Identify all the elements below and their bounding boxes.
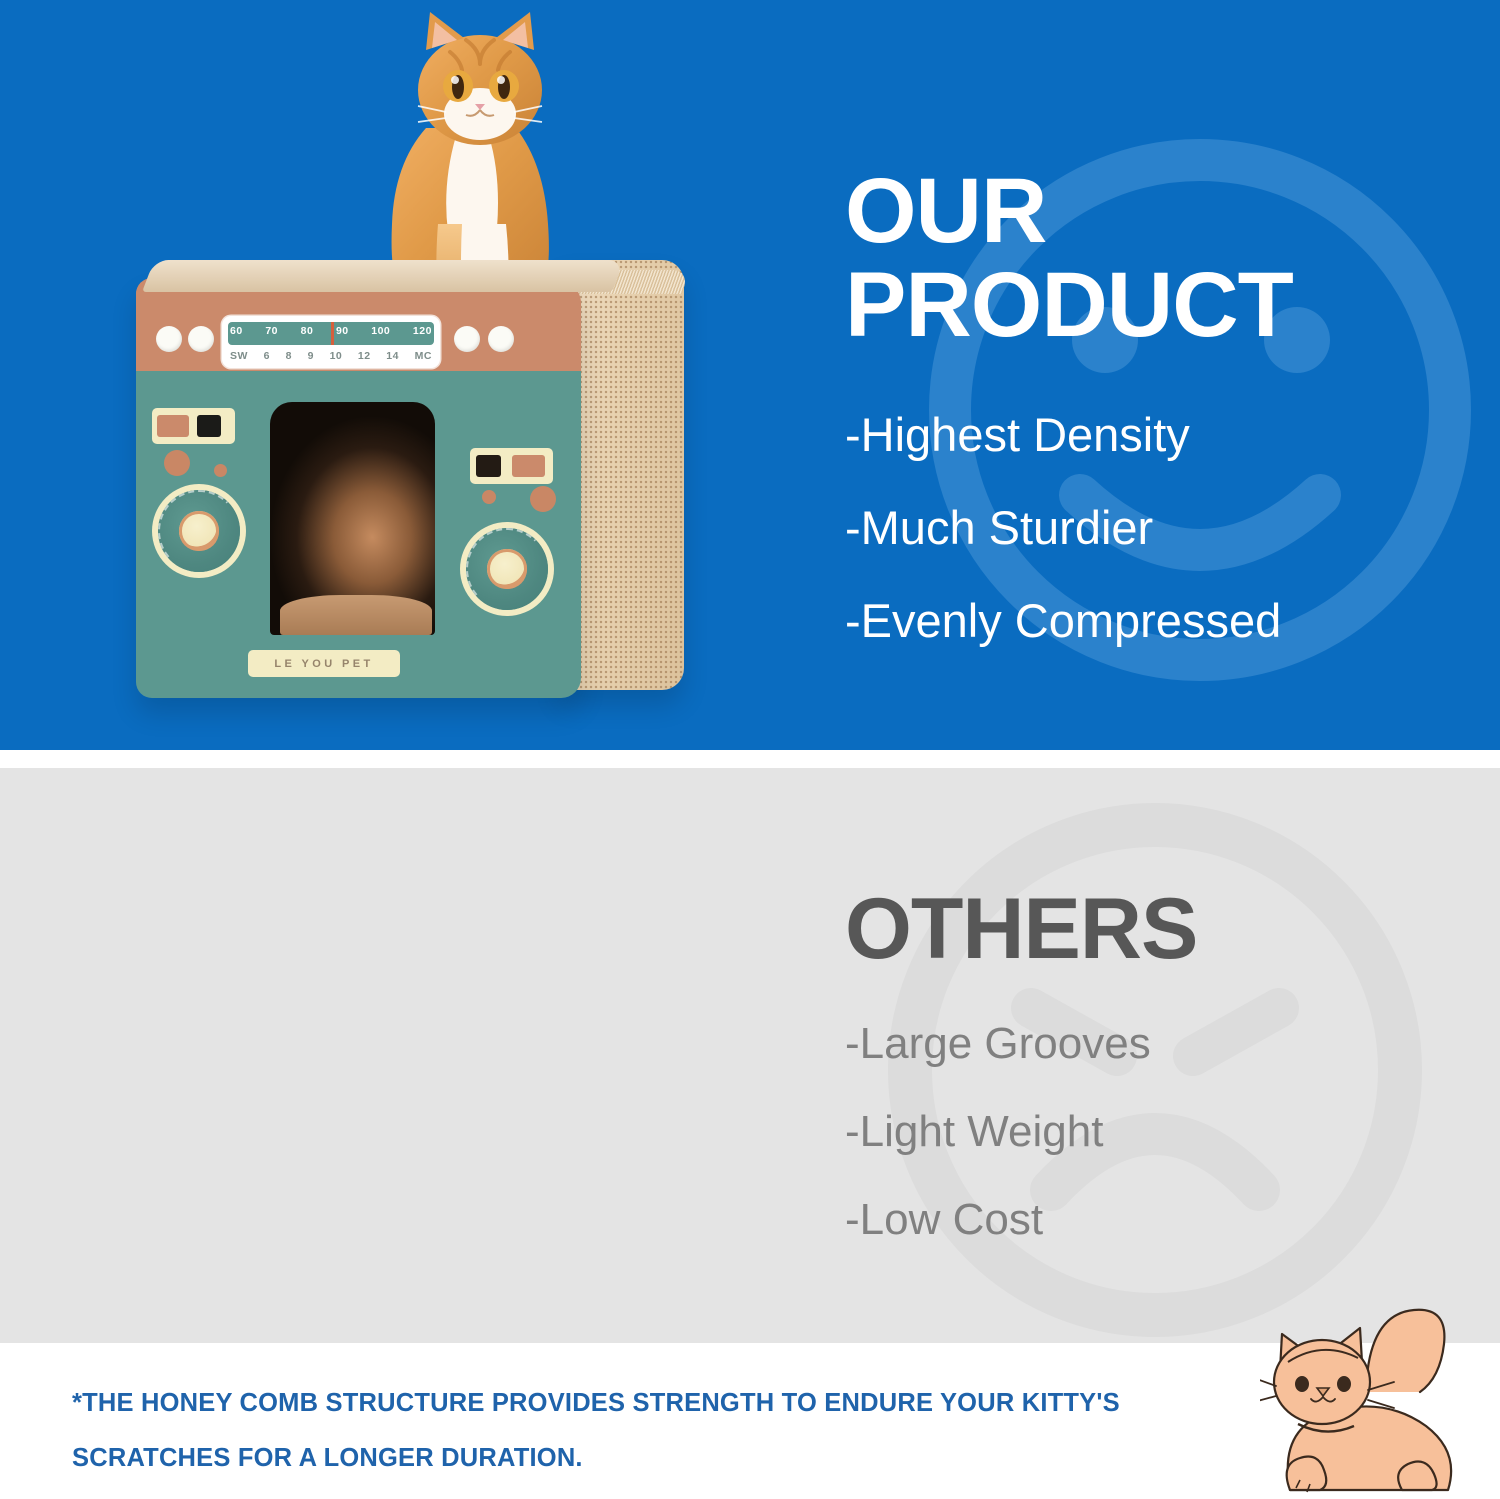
radio-dial-bottom-row: SW 6 8 9 10 12 14 MC (230, 350, 432, 362)
boombox-front-face: 60 70 80 90 100 120 SW 6 8 9 10 12 14 MC (136, 278, 581, 698)
boombox-top-lid (142, 260, 624, 292)
dial-tick: 70 (265, 325, 278, 337)
footer-note-line-1: *THE HONEY COMB STRUCTURE PROVIDES STREN… (72, 1376, 1252, 1431)
radio-dial-plate: 60 70 80 90 100 120 SW 6 8 9 10 12 14 MC (222, 316, 440, 368)
boombox-dot (164, 450, 190, 476)
bullet-item: -Large Grooves (845, 1022, 1465, 1066)
dial-tick: SW (230, 350, 248, 362)
our-product-bullets: -Highest Density -Much Sturdier -Evenly … (845, 411, 1465, 644)
boombox-dot (214, 464, 227, 477)
dial-tick: MC (415, 350, 432, 362)
dial-tick: 10 (330, 350, 343, 362)
boombox-dot (530, 486, 556, 512)
footer-bar: *THE HONEY COMB STRUCTURE PROVIDES STREN… (0, 1343, 1500, 1499)
dial-tick: 8 (286, 350, 292, 362)
heading-line-1: OUR (845, 160, 1046, 262)
speaker-ring-right (466, 528, 548, 610)
boombox-knob (156, 326, 182, 352)
footer-note: *THE HONEY COMB STRUCTURE PROVIDES STREN… (72, 1376, 1252, 1486)
cassette-window (157, 415, 189, 437)
cassette-window (512, 455, 545, 477)
dial-tick: 120 (413, 325, 432, 337)
cassette-window (197, 415, 221, 437)
brand-label: LE YOU PET (248, 650, 400, 677)
boombox-knob (488, 326, 514, 352)
others-bullets: -Large Grooves -Light Weight -Low Cost (845, 1022, 1465, 1242)
dial-tick: 80 (301, 325, 314, 337)
dial-tick: 6 (264, 350, 270, 362)
others-heading: OTHERS (845, 886, 1465, 972)
dial-tick: 60 (230, 325, 243, 337)
bullet-item: -Much Sturdier (845, 504, 1465, 551)
our-product-image: 60 70 80 90 100 120 SW 6 8 9 10 12 14 MC (104, 8, 724, 718)
cassette-bay-left (152, 408, 235, 444)
cat-house-floor (280, 595, 432, 635)
bullet-item: -Highest Density (845, 411, 1465, 458)
boombox-knob (188, 326, 214, 352)
cassette-bay-right (470, 448, 553, 484)
others-panel: OTHERS -Large Grooves -Light Weight -Low… (0, 768, 1500, 1343)
cat-house-opening (270, 402, 435, 635)
radio-dial-top-row: 60 70 80 90 100 120 (230, 325, 432, 337)
dial-tick: 90 (336, 325, 349, 337)
speaker-ring-left (158, 490, 240, 572)
cartoon-cat-mascot (1260, 1304, 1500, 1499)
dial-tick: 14 (386, 350, 399, 362)
dial-tick: 100 (371, 325, 390, 337)
boombox-knob (454, 326, 480, 352)
heading-line-2: PRODUCT (845, 259, 1465, 353)
boombox-dot (482, 490, 496, 504)
our-product-text-column: OUR PRODUCT -Highest Density -Much Sturd… (845, 165, 1465, 690)
bullet-item: -Light Weight (845, 1110, 1465, 1154)
dial-tick: 9 (308, 350, 314, 362)
footer-note-line-2: SCRATCHES FOR A LONGER DURATION. (72, 1431, 1252, 1486)
bullet-item: -Evenly Compressed (845, 597, 1465, 644)
our-product-heading: OUR PRODUCT (845, 165, 1465, 353)
our-product-panel: 60 70 80 90 100 120 SW 6 8 9 10 12 14 MC (0, 0, 1500, 750)
bullet-item: -Low Cost (845, 1198, 1465, 1242)
dial-tick: 12 (358, 350, 371, 362)
cassette-window (476, 455, 501, 477)
others-text-column: OTHERS -Large Grooves -Light Weight -Low… (845, 886, 1465, 1286)
